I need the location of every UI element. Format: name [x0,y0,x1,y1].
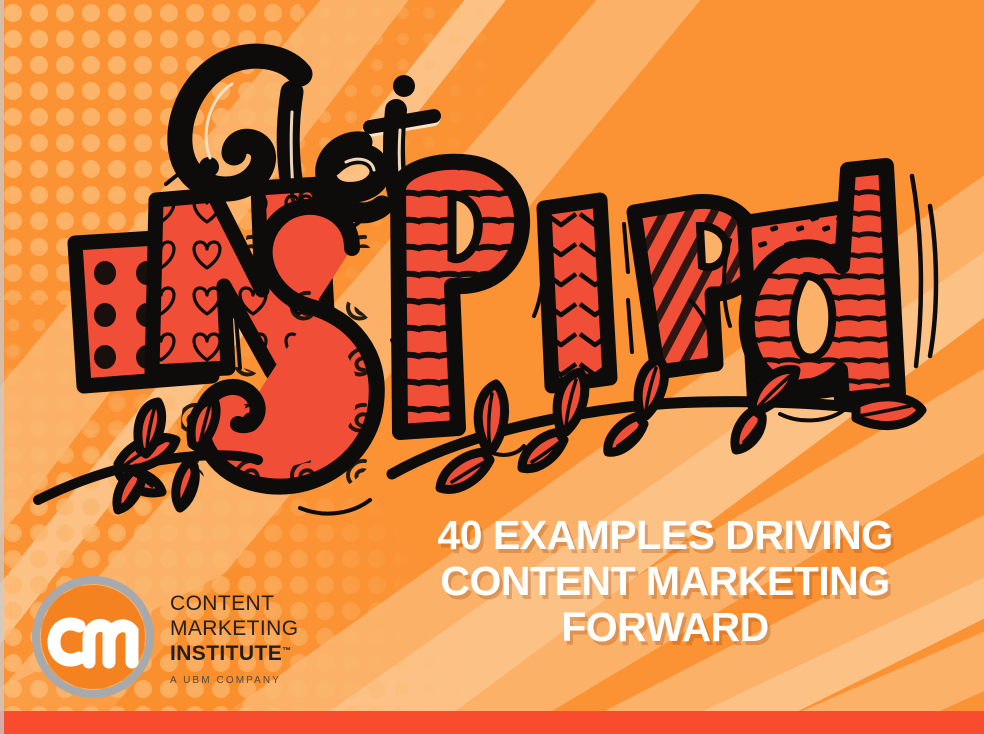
logo-line-ubm: A UBM COMPANY [170,675,298,686]
subtitle-line-1: 40 EXAMPLES DRIVING [372,512,958,558]
letter-i-chevrons [544,200,632,386]
letter-d-stripes [747,166,936,400]
bottom-accent-bar [0,711,984,734]
cmi-logo-mark [32,576,154,698]
cmi-logo-wordmark: CONTENT MARKETING INSTITUTE™ A UBM COMPA… [170,589,298,686]
left-edge-strip [0,0,4,734]
cover-canvas: 40 EXAMPLES DRIVING CONTENT MARKETING FO… [0,0,984,734]
subtitle-line-2: CONTENT MARKETING [372,558,958,604]
subtitle-line-3: FORWARD [372,604,958,650]
logo-line-content: CONTENT [170,591,298,616]
subtitle-block: 40 EXAMPLES DRIVING CONTENT MARKETING FO… [372,512,958,650]
trademark-symbol: ™ [282,645,291,655]
logo-line-institute: INSTITUTE [170,641,282,666]
logo-line-marketing: MARKETING [170,616,298,641]
letter-p-stripes [398,162,543,455]
cmi-logo-lockup: CONTENT MARKETING INSTITUTE™ A UBM COMPA… [32,576,298,698]
